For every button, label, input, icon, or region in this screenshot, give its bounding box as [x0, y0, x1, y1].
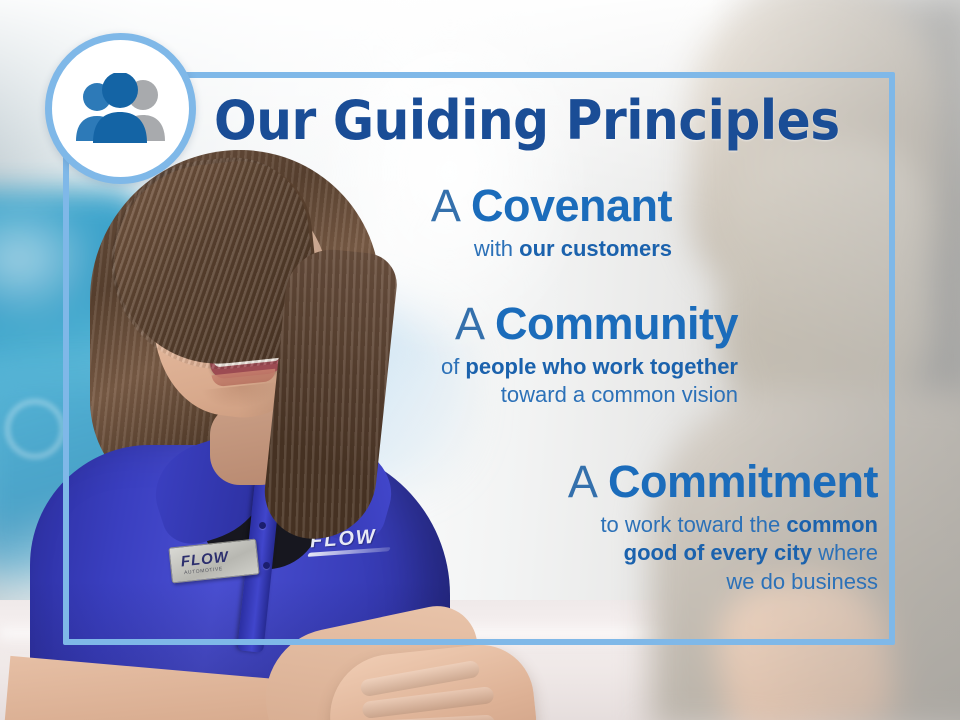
- subtitle-bold: our customers: [519, 236, 672, 261]
- people-group-icon: [69, 73, 173, 145]
- principle-community: A Community of people who work together …: [441, 300, 738, 410]
- subtitle-regular-part3: we do business: [726, 569, 878, 594]
- subtitle-regular-line2: toward a common vision: [501, 382, 738, 407]
- principle-commitment: A Commitment to work toward the common g…: [568, 458, 878, 596]
- principle-title: A Covenant: [431, 182, 672, 229]
- principle-title: A Commitment: [568, 458, 878, 505]
- principle-keyword: Covenant: [471, 180, 672, 231]
- graphic-overlay: Our Guiding Principles A Covenant with o…: [0, 0, 960, 720]
- principle-article: A: [568, 456, 596, 507]
- principle-subtitle: of people who work together toward a com…: [441, 353, 738, 409]
- principle-keyword: Commitment: [608, 456, 878, 507]
- people-group-badge: [45, 33, 196, 184]
- principle-subtitle: to work toward the common good of every …: [568, 511, 878, 595]
- subtitle-bold-part1: common: [786, 512, 878, 537]
- subtitle-regular-part2: where: [812, 540, 878, 565]
- principle-keyword: Community: [495, 298, 738, 349]
- page-title: Our Guiding Principles: [214, 94, 840, 148]
- subtitle-bold: people who work together: [465, 354, 738, 379]
- principle-covenant: A Covenant with our customers: [431, 182, 672, 263]
- principle-article: A: [455, 298, 483, 349]
- subtitle-bold-part2: good of every city: [624, 540, 812, 565]
- principle-title: A Community: [441, 300, 738, 347]
- subtitle-regular: of: [441, 354, 465, 379]
- subtitle-regular: with: [474, 236, 519, 261]
- principle-article: A: [431, 180, 459, 231]
- principle-subtitle: with our customers: [431, 235, 672, 263]
- subtitle-regular: to work toward the: [600, 512, 786, 537]
